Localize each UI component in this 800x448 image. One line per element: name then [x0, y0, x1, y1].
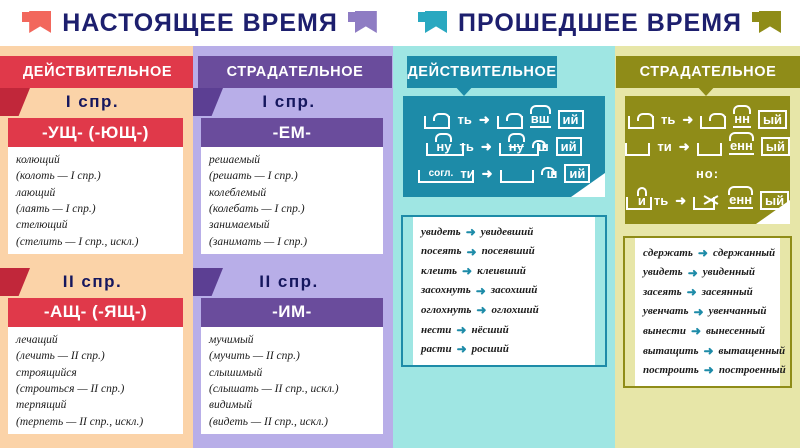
- bent-arrow-purple-icon: [348, 8, 378, 38]
- past-active-examples-frame: увидеть ➜ увидевший посеять ➜ посеявший …: [401, 215, 607, 367]
- example-item: (решать — I спр.): [209, 168, 383, 184]
- conjugation-ribbon: I спр.: [0, 88, 185, 116]
- example-item: лечащий: [16, 332, 183, 348]
- bent-arrow-teal-icon: [418, 8, 448, 38]
- arrow-right-icon: ➜: [479, 113, 490, 126]
- participle: нёсший: [471, 322, 508, 340]
- suffix-cap-icon: [709, 113, 726, 121]
- example-row: посеять ➜ посеявший: [421, 243, 595, 263]
- present-active-block-1: I спр. -УЩ- (-ЮЩ-) колющий (колоть — I с…: [0, 88, 193, 254]
- example-item: (слышать — II спр., искл.): [209, 381, 383, 397]
- arrow-right-icon: ➜: [466, 223, 476, 243]
- formula-row: ть ➜ нн ый: [625, 106, 790, 133]
- banner-past-active: ДЕЙСТВИТЕЛЬНОЕ: [407, 56, 557, 88]
- participle: вынесенный: [706, 323, 765, 341]
- formula-text: ть: [457, 112, 471, 127]
- participle: сдержанный: [713, 245, 775, 263]
- verb-infinitive: засеять: [643, 284, 682, 302]
- example-row: оглохнуть ➜ оглохший: [421, 301, 595, 321]
- example-row: расти ➜ росший: [421, 340, 595, 360]
- example-item: (стелить — I спр., искл.): [16, 234, 183, 250]
- conjugation-ribbon: II спр.: [0, 268, 185, 296]
- suffix-vsh: вш: [530, 111, 551, 128]
- examples-list: увидеть ➜ увидевший посеять ➜ посеявший …: [413, 217, 595, 365]
- suffix-cap-icon: [637, 113, 654, 121]
- verb-infinitive: нести: [421, 322, 451, 340]
- banner-present-active: ДЕЙСТВИТЕЛЬНОЕ: [0, 56, 193, 88]
- participle: засохший: [491, 282, 538, 300]
- example-row: построить ➜ построенный: [643, 361, 780, 381]
- example-item: (лечить — II спр.): [16, 348, 183, 364]
- bent-arrow-olive-icon: [752, 8, 782, 38]
- suffix-label: -УЩ- (-ЮЩ-): [42, 123, 149, 143]
- column-past-passive: ть ➜ нн ый ти ➜ енн ый но:: [615, 46, 800, 448]
- arrow-right-icon: ➜: [688, 264, 698, 284]
- suffix-nu-struck: ну: [508, 139, 525, 154]
- example-item: строящийся: [16, 365, 183, 381]
- suffix-bar: -УЩ- (-ЮЩ-): [8, 118, 183, 147]
- banner-label: СТРАДАТЕЛЬНОЕ: [616, 64, 800, 80]
- arrow-right-icon: ➜: [482, 167, 493, 180]
- suffix-bar: -ЕМ-: [201, 118, 383, 147]
- banner-past-passive: СТРАДАТЕЛЬНОЕ: [616, 56, 800, 88]
- suffix-label: -ИМ-: [272, 302, 312, 322]
- example-item: (терпеть — II спр., искл.): [16, 414, 183, 430]
- example-row: вытащить ➜ вытащенный: [643, 342, 780, 362]
- formula-row: ну ть ➜ ну ш ий: [403, 133, 605, 160]
- example-row: клеить ➜ клеивший: [421, 262, 595, 282]
- ending-box: ий: [558, 110, 584, 129]
- banner-label: СТРАДАТЕЛЬНОЕ: [198, 64, 392, 80]
- page-title-past: ПРОШЕДШЕЕ ВРЕМЯ: [458, 9, 742, 38]
- verb-infinitive: увидеть: [421, 224, 461, 242]
- conjugation-label: I спр.: [0, 92, 185, 112]
- verb-infinitive: клеить: [421, 263, 457, 281]
- arrow-right-icon: ➜: [694, 303, 704, 323]
- examples-list: лечащий (лечить — II спр.) строящийся (с…: [8, 327, 183, 434]
- stem-bracket-icon: [697, 143, 722, 156]
- suffix-label: -ЕМ-: [273, 123, 312, 143]
- verb-infinitive: вытащить: [643, 343, 698, 361]
- suffix-cap-icon: [541, 167, 555, 175]
- example-item: (занимать — I спр.): [209, 234, 383, 250]
- participle: засеянный: [702, 284, 753, 302]
- banner-present-passive: СТРАДАТЕЛЬНОЕ: [198, 56, 392, 88]
- verb-infinitive: увидеть: [643, 264, 683, 282]
- participle: клеивший: [477, 263, 526, 281]
- example-item: (колоть — I спр.): [16, 168, 183, 184]
- arrow-right-icon: ➜: [481, 140, 492, 153]
- verb-infinitive: оглохнуть: [421, 302, 471, 320]
- verb-infinitive: увенчать: [643, 303, 689, 321]
- present-passive-block-2: II спр. -ИМ- мучимый (мучить — II спр.) …: [193, 268, 393, 434]
- suffix-cap-icon: [532, 140, 546, 148]
- suffix-label: -АЩ- (-ЯЩ-): [44, 302, 147, 322]
- conjugation-label: II спр.: [193, 272, 385, 292]
- example-row: нести ➜ нёсший: [421, 321, 595, 341]
- arrow-right-icon: ➜: [679, 140, 690, 153]
- formula-row: согл. ти ➜ ш ий: [403, 160, 605, 187]
- participle: построенный: [719, 362, 786, 380]
- formula-text: ть: [661, 112, 675, 127]
- infographic-board: НАСТОЯЩЕЕ ВРЕМЯ ПРОШЕДШЕЕ ВРЕМЯ I спр.: [0, 0, 800, 448]
- example-item: занимаемый: [209, 217, 383, 233]
- arrow-right-icon: ➜: [682, 113, 693, 126]
- verb-infinitive: посеять: [421, 243, 462, 261]
- suffix-cap-icon: [433, 113, 450, 121]
- present-active-block-2: II спр. -АЩ- (-ЯЩ-) лечащий (лечить — II…: [0, 268, 193, 434]
- example-row: вынести ➜ вынесенный: [643, 322, 780, 342]
- past-passive-examples-frame: сдержать ➜ сдержанный увидеть ➜ увиденны…: [623, 236, 792, 388]
- verb-infinitive: расти: [421, 341, 452, 359]
- example-row: увенчать ➜ увенчанный: [643, 303, 780, 323]
- example-item: терпящий: [16, 397, 183, 413]
- verb-infinitive: построить: [643, 362, 699, 380]
- ending-box: ий: [564, 164, 590, 183]
- example-item: слышимый: [209, 365, 383, 381]
- suffix-cap-icon: [506, 113, 523, 121]
- verb-infinitive: вынести: [643, 323, 686, 341]
- example-item: лающий: [16, 185, 183, 201]
- participle: увидевший: [481, 224, 534, 242]
- arrow-right-icon: ➜: [476, 301, 486, 321]
- examples-list: мучимый (мучить — II спр.) слышимый (слы…: [201, 327, 383, 434]
- suffix-enn: енн: [729, 138, 754, 155]
- past-active-formula-box: ть ➜ вш ий ну ть ➜ ну ш ий: [403, 96, 605, 197]
- example-item: стелющий: [16, 217, 183, 233]
- banner-label: ДЕЙСТВИТЕЛЬНОЕ: [2, 64, 193, 80]
- suffix-bar: -АЩ- (-ЯЩ-): [8, 298, 183, 327]
- participle: увенчанный: [709, 303, 767, 321]
- ending-box: ий: [556, 137, 582, 156]
- participle: оглохший: [491, 302, 538, 320]
- arrow-right-icon: ➜: [462, 262, 472, 282]
- ending-box: ый: [761, 137, 790, 156]
- example-row: сдержать ➜ сдержанный: [643, 244, 780, 264]
- columns-container: I спр. -УЩ- (-ЮЩ-) колющий (колоть — I с…: [0, 46, 800, 448]
- example-item: (лаять — I спр.): [16, 201, 183, 217]
- arrow-right-icon: ➜: [467, 243, 477, 263]
- suffix-enn: енн: [728, 192, 753, 209]
- arrow-right-icon: ➜: [457, 340, 467, 360]
- ending-box: ый: [758, 110, 787, 129]
- example-item: решаемый: [209, 152, 383, 168]
- formula-note-row: но:: [625, 160, 790, 187]
- suffix-i: и: [637, 193, 647, 208]
- example-item: (строиться — II спр.): [16, 381, 183, 397]
- arrow-right-icon: ➜: [698, 244, 708, 264]
- present-passive-block-1: I спр. -ЕМ- решаемый (решать — I спр.) к…: [193, 88, 393, 254]
- banner-label: ДЕЙСТВИТЕЛЬНОЕ: [407, 64, 557, 80]
- example-row: засохнуть ➜ засохший: [421, 282, 595, 302]
- but-note-label: но:: [696, 166, 719, 181]
- arrow-right-icon: ➜: [476, 282, 486, 302]
- example-row: засеять ➜ засеянный: [643, 283, 780, 303]
- page-title-present: НАСТОЯЩЕЕ ВРЕМЯ: [62, 9, 338, 38]
- suffix-nn: нн: [733, 111, 751, 128]
- example-item: видимый: [209, 397, 383, 413]
- example-item: (колебать — I спр.): [209, 201, 383, 217]
- bent-arrow-red-icon: [22, 8, 52, 38]
- examples-list: сдержать ➜ сдержанный увидеть ➜ увиденны…: [635, 238, 780, 386]
- conjugation-label: I спр.: [193, 92, 385, 112]
- arrow-right-icon: ➜: [675, 194, 686, 207]
- example-row: увидеть ➜ увиденный: [643, 264, 780, 284]
- participle: росший: [472, 341, 509, 359]
- header-past-tense: ПРОШЕДШЕЕ ВРЕМЯ: [400, 0, 800, 46]
- stem-bracket-icon: [625, 143, 650, 156]
- example-item: колющий: [16, 152, 183, 168]
- formula-row: ть ➜ вш ий: [403, 106, 605, 133]
- section-banners: ДЕЙСТВИТЕЛЬНОЕ СТРАДАТЕЛЬНОЕ ДЕЙСТВИТЕЛЬ…: [0, 46, 800, 88]
- participle: увиденный: [703, 264, 755, 282]
- example-item: колеблемый: [209, 185, 383, 201]
- formula-row: ти ➜ енн ый: [625, 133, 790, 160]
- header-present-tense: НАСТОЯЩЕЕ ВРЕМЯ: [0, 0, 400, 46]
- examples-list: решаемый (решать — I спр.) колеблемый (к…: [201, 147, 383, 254]
- participle: вытащенный: [719, 343, 786, 361]
- suffix-bar: -ИМ-: [201, 298, 383, 327]
- verb-infinitive: засохнуть: [421, 282, 471, 300]
- stem-bracket-icon: [500, 170, 534, 183]
- arrow-right-icon: ➜: [704, 361, 714, 381]
- header-band: НАСТОЯЩЕЕ ВРЕМЯ ПРОШЕДШЕЕ ВРЕМЯ: [0, 0, 800, 46]
- conjugation-ribbon: I спр.: [193, 88, 385, 116]
- formula-text: ть: [654, 193, 668, 208]
- column-past-active: ть ➜ вш ий ну ть ➜ ну ш ий: [393, 46, 615, 448]
- verb-infinitive: сдержать: [643, 245, 693, 263]
- column-present-active: I спр. -УЩ- (-ЮЩ-) колющий (колоть — I с…: [0, 46, 193, 448]
- stem-bracket-icon: [418, 170, 474, 183]
- arrow-right-icon: ➜: [691, 322, 701, 342]
- conjugation-ribbon: II спр.: [193, 268, 385, 296]
- arrow-right-icon: ➜: [456, 321, 466, 341]
- example-item: (мучить — II спр.): [209, 348, 383, 364]
- struck-out-icon: [701, 193, 721, 208]
- example-item: (видеть — II спр., искл.): [209, 414, 383, 430]
- formula-text: ти: [657, 139, 671, 154]
- example-item: мучимый: [209, 332, 383, 348]
- formula-row: и ть ➜ енн ый: [625, 187, 790, 214]
- column-present-passive: I спр. -ЕМ- решаемый (решать — I спр.) к…: [193, 46, 393, 448]
- past-passive-formula-box: ть ➜ нн ый ти ➜ енн ый но:: [625, 96, 790, 224]
- suffix-nu: ну: [435, 139, 452, 154]
- conjugation-label: II спр.: [0, 272, 185, 292]
- examples-list: колющий (колоть — I спр.) лающий (лаять …: [8, 147, 183, 254]
- arrow-right-icon: ➜: [703, 342, 713, 362]
- example-row: увидеть ➜ увидевший: [421, 223, 595, 243]
- participle: посеявший: [482, 243, 535, 261]
- arrow-right-icon: ➜: [687, 283, 697, 303]
